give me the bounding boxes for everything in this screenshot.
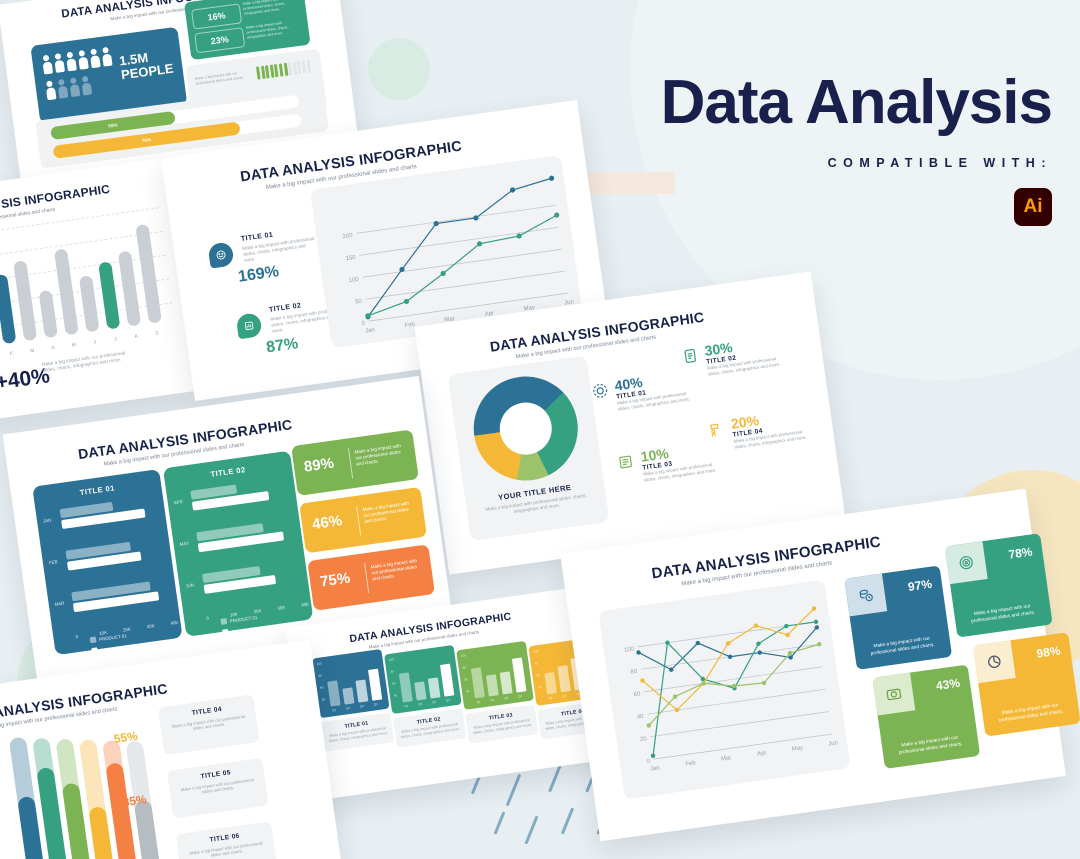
person-icon [45, 80, 56, 100]
stat-desc: Make a big impact with our professional … [862, 635, 943, 659]
stat-percent: 78% [1008, 544, 1034, 561]
stat-desc: Make a big impact with our professional … [990, 702, 1071, 726]
axis-tick: Q2 [418, 702, 423, 707]
mini-chart-card[interactable]: 100806040Q1Q2Q3Q4TITLE 03Make a big impa… [456, 641, 538, 743]
stat-card: 78% Make a big impact with our professio… [945, 533, 1053, 637]
mini-bar-chart: 100806040Q1Q2Q3Q4 [384, 645, 462, 714]
axis-tick: 80 [534, 661, 538, 665]
donut-panel: YOUR TITLE HERE Make a big impact with p… [448, 355, 610, 541]
person-icon [41, 55, 52, 75]
mini-bar-chart: 100806040Q1Q2Q3Q4 [312, 649, 390, 718]
axis-tick: 60 [536, 673, 540, 677]
axis-label: MAY [179, 541, 189, 547]
legend-item: PRODUCT 01 [220, 614, 257, 625]
hbar-card: TITLE 02 APRMAYJUN010K20K30K40KPRODUCT 0… [163, 451, 313, 637]
axis-tick: 100 [316, 661, 322, 666]
mini-bar-chart: 100806040Q1Q2Q3Q4 [456, 641, 534, 710]
percent-value: 89% [303, 455, 335, 476]
svg-text:20: 20 [640, 736, 648, 743]
svg-text:Jun: Jun [828, 740, 838, 747]
bar [440, 664, 454, 697]
axis-label: MAR [54, 601, 64, 607]
axis-tick: Q1 [404, 704, 409, 709]
bar-label: M [67, 342, 81, 350]
axis-tick: 30K [146, 623, 154, 629]
stat-card: 43% Make a big impact with our professio… [872, 665, 980, 769]
bar [512, 658, 527, 693]
percent-value: 75% [319, 570, 351, 591]
bar [327, 681, 340, 707]
kpi-value: 87% [265, 335, 299, 357]
svg-text:200: 200 [342, 233, 353, 240]
axis-tick: Q3 [360, 704, 365, 709]
axis-tick: 40 [394, 693, 398, 697]
svg-text:May: May [792, 745, 804, 753]
svg-text:0: 0 [361, 321, 366, 327]
axis-tick: 60 [464, 677, 468, 681]
axis-tick: Q2 [490, 698, 495, 703]
stat-desc: Make a big impact with professional slid… [246, 18, 303, 40]
percent-card: 75% Make a big impact with our professio… [307, 544, 435, 610]
percent-desc: Make a big impact with our professional … [370, 557, 424, 582]
bar [414, 681, 426, 701]
line-chart-panel: 020406080100JanFebMarAprMayJun [598, 580, 850, 800]
bar [557, 666, 570, 693]
axis-tick: Q1 [548, 696, 553, 701]
axis-tick: Q4 [446, 698, 451, 703]
chat-smile-icon [207, 241, 234, 268]
person-icon [80, 76, 91, 96]
stat-percent: 43% [935, 676, 961, 693]
axis-tick: 40 [321, 697, 325, 701]
axis-tick: Q4 [374, 702, 379, 707]
legend-item: PRODUCT 02 [91, 643, 128, 654]
axis-label: FEB [49, 559, 58, 565]
axis-tick: 80 [318, 674, 322, 678]
page-title: Data Analysis [661, 72, 1052, 134]
poster-canvas: DATA ANALYSIS INFOGRAPHIC Make a big imp… [0, 0, 1080, 859]
percent-card: 89% Make a big impact with our professio… [291, 429, 419, 495]
chart-badge-icon [973, 640, 1016, 683]
axis-tick: 100 [389, 657, 395, 662]
svg-text:60: 60 [633, 691, 641, 698]
person-icon [65, 51, 76, 71]
background-circle-mint [368, 38, 430, 100]
tick-meter-row [256, 60, 311, 80]
axis-tick: Q3 [432, 700, 437, 705]
mini-card-footer: TITLE 02Make a big impact with professio… [393, 708, 466, 747]
bar [428, 677, 441, 698]
donut-legend-item[interactable]: 20% TITLE 04 Make a big impact with prof… [730, 405, 814, 450]
person-icon [89, 48, 100, 68]
svg-text:80: 80 [630, 669, 638, 676]
bar-label: A [129, 333, 143, 341]
clipboard-icon [680, 346, 700, 366]
person-icon [68, 77, 79, 97]
bar [135, 224, 162, 324]
bar-label: J [109, 336, 123, 344]
percent-desc: Make a big impact with our professional … [354, 442, 408, 467]
svg-text:50: 50 [355, 299, 363, 306]
bar [342, 687, 354, 704]
compatible-label: COMPATIBLE WITH: [661, 156, 1052, 170]
svg-text:100: 100 [624, 646, 635, 653]
bar [39, 290, 58, 338]
svg-text:100: 100 [348, 277, 359, 284]
percent-card: 46% Make a big impact with our professio… [299, 487, 427, 553]
bar [486, 674, 499, 696]
stat-card: 98% Make a big impact with our professio… [973, 632, 1080, 736]
svg-text:Feb: Feb [685, 760, 697, 767]
bar-fill [134, 800, 163, 859]
svg-text:40: 40 [637, 714, 645, 721]
donut-legend-item[interactable]: 30% TITLE 02 Make a big impact with prof… [704, 332, 788, 377]
axis-tick: 60 [320, 685, 324, 689]
percent-value: 46% [311, 512, 343, 533]
svg-text:Mar: Mar [721, 755, 732, 762]
svg-text:Apr: Apr [757, 750, 767, 757]
bar [355, 679, 368, 702]
title-card: TITLE 05 Make a big impact with our prof… [167, 758, 269, 819]
axis-tick: 0 [206, 616, 209, 621]
slide-vertical-bars[interactable]: DATA ANALYSIS INFOGRAPHIC Make a big imp… [0, 158, 195, 432]
svg-text:150: 150 [345, 255, 356, 262]
axis-tick: Q1 [476, 700, 481, 705]
axis-label: APR [173, 499, 183, 505]
axis-tick: Q3 [504, 696, 509, 701]
title-card: TITLE 04 Make a big impact with our prof… [158, 694, 260, 755]
bar [500, 671, 513, 695]
axis-tick: 80 [390, 669, 394, 673]
donut-legend-item[interactable]: 10% TITLE 03 Make a big impact with prof… [640, 438, 724, 483]
axis-label: JAN [43, 518, 52, 524]
stat-desc: Make a big impact with professional slid… [242, 0, 299, 17]
stat-desc: Make a big impact with our professional … [890, 734, 971, 758]
gear-icon [590, 381, 610, 401]
percent-desc: Make a big impact with our professional … [362, 500, 416, 525]
bar-label: S [150, 330, 164, 338]
bar [399, 673, 413, 703]
stat-card: 97% Make a big impact with our professio… [844, 565, 952, 669]
stat-percent: 98% [1036, 643, 1062, 660]
bar [544, 672, 557, 694]
bar [471, 668, 485, 699]
target-icon [945, 541, 988, 584]
mini-card-footer: TITLE 03Make a big impact with professio… [465, 704, 538, 743]
bar-label: A [46, 344, 60, 352]
axis-tick: Q1 [332, 708, 337, 713]
axis-tick: 40K [301, 601, 309, 607]
axis-tick: 100 [533, 649, 539, 654]
bar [118, 251, 141, 327]
newspaper-icon [616, 452, 636, 472]
axis-tick: Q2 [346, 706, 351, 711]
bar-label: J [88, 339, 102, 347]
svg-text:0: 0 [646, 759, 651, 765]
svg-text:Jan: Jan [650, 765, 660, 772]
donut-legend-item[interactable]: 40% TITLE 01 Make a big impact with prof… [614, 367, 698, 412]
bar-chart: JFMAMJJAS [0, 207, 177, 376]
kpi-note: Make a big impact with our professional … [42, 350, 135, 375]
legend-item: PRODUCT 02 [222, 625, 259, 636]
mini-chart-card[interactable]: 100806040Q1Q2Q3Q4TITLE 02Make a big impa… [384, 645, 466, 747]
hero-block: Data Analysis COMPATIBLE WITH: Ai [661, 72, 1052, 226]
axis-tick: 40 [466, 689, 470, 693]
bar [0, 274, 16, 344]
people-figure: 1.5M PEOPLE [118, 48, 174, 83]
mini-chart-card[interactable]: 100806040Q1Q2Q3Q4TITLE 01Make a big impa… [312, 649, 394, 751]
presenter-icon [707, 419, 727, 439]
donut-chart [467, 370, 584, 487]
svg-text:Jan: Jan [365, 327, 375, 334]
bar-label: M [25, 347, 39, 355]
axis-tick: 30K [277, 605, 285, 611]
camera-icon [872, 673, 915, 716]
coins-clock-icon [844, 574, 887, 617]
bar-label: F [5, 350, 19, 358]
axis-tick: 0 [75, 634, 78, 639]
stat-pill: 16% [191, 3, 242, 29]
bar [79, 275, 100, 332]
kpi-value: 169% [237, 263, 280, 287]
axis-tick: 40 [538, 685, 542, 689]
tick-note: Make a big impact with our professional … [195, 70, 250, 87]
person-icon [56, 79, 67, 99]
stat-pill: 23% [194, 27, 245, 53]
hbar-card-title: TITLE 02 [164, 459, 292, 486]
stat-desc: Make a big impact with our professional … [962, 603, 1043, 627]
axis-tick: 60 [392, 681, 396, 685]
chat-chart-icon [236, 312, 263, 339]
axis-tick: 40K [170, 620, 178, 626]
line-chart: 020406080100JanFebMarAprMayJun [598, 580, 850, 800]
adobe-illustrator-icon: Ai [1014, 188, 1052, 226]
person-icon [53, 53, 64, 73]
title-card: TITLE 06 Make a big impact with our prof… [176, 821, 278, 859]
axis-tick: Q4 [518, 694, 523, 699]
people-icon-grid [40, 45, 124, 107]
axis-label: JUN [185, 582, 194, 588]
axis-tick: 100 [461, 653, 467, 658]
axis-tick: Q2 [562, 694, 567, 699]
bar [368, 668, 382, 700]
bar [98, 261, 120, 329]
mini-card-footer: TITLE 01Make a big impact with professio… [321, 712, 394, 751]
hbar-card-title: TITLE 01 [33, 477, 161, 504]
person-icon [101, 47, 112, 67]
legend-item: PRODUCT 01 [90, 632, 127, 643]
stat-percent: 97% [907, 577, 933, 594]
axis-tick: 80 [462, 665, 466, 669]
hbar-card: TITLE 01 JANFEBMAR010K20K30K40KPRODUCT 0… [32, 469, 182, 655]
person-icon [77, 50, 88, 70]
